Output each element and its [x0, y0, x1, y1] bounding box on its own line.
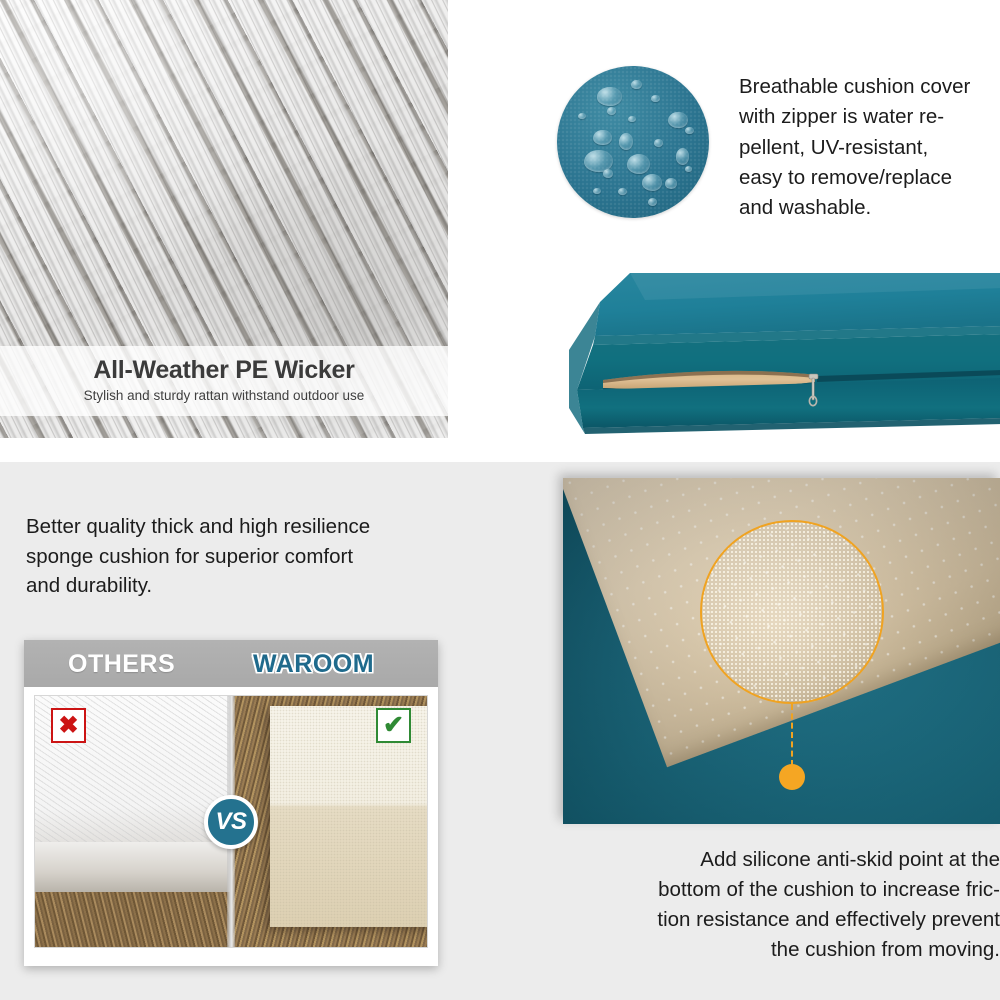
comparison-header: OTHERS WAROOM — [24, 640, 438, 687]
silicone-point-marker — [779, 764, 805, 790]
sponge-quality-description: Better quality thick and high resilience… — [26, 512, 446, 601]
copy-line: pellent, UV-resistant, — [739, 133, 1000, 163]
copy-line: and durability. — [26, 571, 446, 601]
cross-mark-icon: ✖ — [51, 708, 86, 743]
copy-line: bottom of the cushion to increase fric- — [573, 875, 1000, 905]
copy-line: Breathable cushion cover — [739, 72, 1000, 102]
wicker-caption-band: All-Weather PE Wicker Stylish and sturdy… — [0, 346, 448, 416]
annotation-dashed-line — [791, 704, 793, 766]
water-repellent-description: Breathable cushion cover with zipper is … — [739, 72, 1000, 224]
copy-line: with zipper is water re- — [739, 102, 1000, 132]
anti-skid-description: Add silicone anti-skid point at the bott… — [573, 845, 1000, 965]
check-mark-icon: ✔ — [376, 708, 411, 743]
waroom-brand-label: WAROOM — [253, 650, 374, 679]
copy-line: the cushion from moving. — [573, 935, 1000, 965]
zoom-circle-annotation — [700, 520, 884, 704]
water-droplets-circle-icon — [557, 66, 709, 218]
silicone-anti-skid-image — [563, 478, 1000, 824]
versus-badge: VS — [204, 795, 258, 849]
wicker-title: All-Weather PE Wicker — [0, 356, 448, 385]
thin-foam-edge — [35, 842, 231, 892]
infographic-page: All-Weather PE Wicker Stylish and sturdy… — [0, 0, 1000, 1000]
copy-line: easy to remove/replace — [739, 163, 1000, 193]
copy-line: tion resistance and effectively prevent — [573, 905, 1000, 935]
foam-comparison-panel: OTHERS WAROOM ✖ ✔ VS — [24, 640, 438, 966]
copy-line: and washable. — [739, 193, 1000, 223]
copy-line: sponge cushion for superior comfort — [26, 542, 446, 572]
teal-cushion-zipper-image — [525, 258, 1000, 448]
pe-wicker-image: All-Weather PE Wicker Stylish and sturdy… — [0, 0, 448, 438]
others-label: OTHERS — [68, 650, 175, 679]
wicker-subtitle: Stylish and sturdy rattan withstand outd… — [0, 388, 448, 404]
copy-line: Add silicone anti-skid point at the — [573, 845, 1000, 875]
comparison-images: ✖ ✔ VS — [34, 695, 428, 948]
cushion-illustration — [525, 258, 1000, 448]
copy-line: Better quality thick and high resilience — [26, 512, 446, 542]
